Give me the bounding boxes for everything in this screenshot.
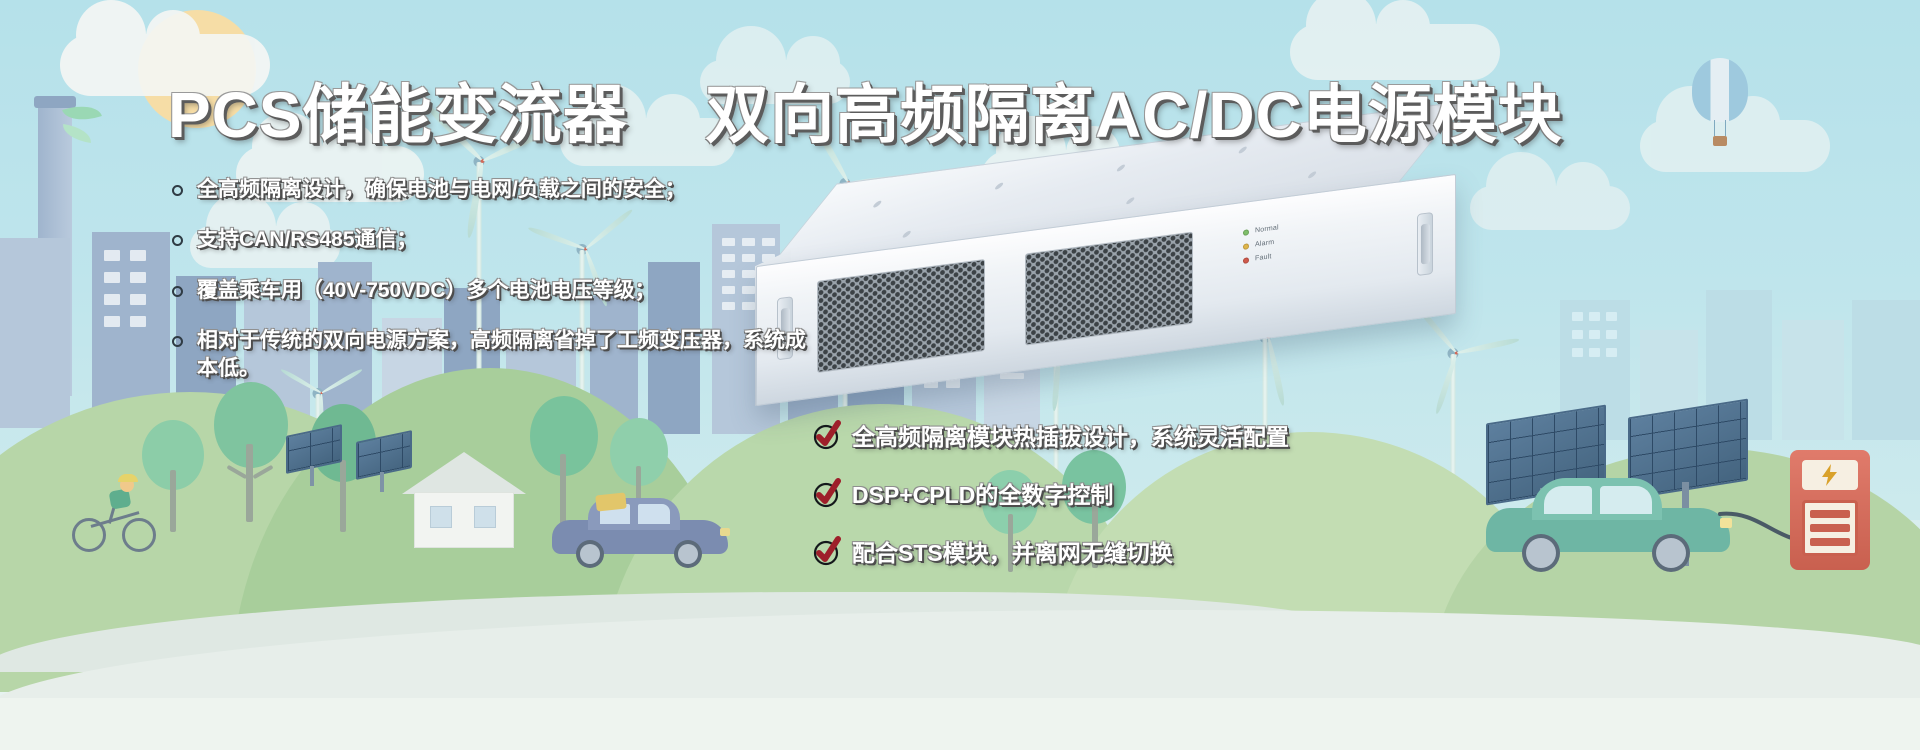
led-label-alarm: Alarm <box>1255 239 1274 249</box>
led-indicator-fault <box>1243 257 1249 264</box>
led-label-fault: Fault <box>1255 253 1272 262</box>
list-item: 配合STS模块，并离网无缝切换 <box>812 534 1289 568</box>
road-grass-band <box>0 698 1920 750</box>
feature-list: 全高频隔离设计，确保电池与电网/负载之间的安全； 支持CAN/RS485通信； … <box>172 176 892 406</box>
led-label-normal: Normal <box>1255 224 1279 234</box>
feature-text: 全高频隔离设计，确保电池与电网/负载之间的安全； <box>197 176 686 204</box>
feature-text: 覆盖乘车用（40V-750VDC）多个电池电压等级； <box>197 277 656 305</box>
car-icon <box>552 498 728 564</box>
list-item: DSP+CPLD的全数字控制 <box>812 476 1289 510</box>
device-led-panel: Normal Alarm Fault <box>1243 224 1279 271</box>
cloud-shape <box>1470 186 1630 230</box>
list-item: 相对于传统的双向电源方案，高频隔离省掉了工频变压器，系统成本低。 <box>172 327 812 384</box>
check-circle-icon <box>812 420 842 450</box>
hot-air-balloon-icon <box>1690 58 1750 168</box>
solar-panel-leg <box>380 472 384 492</box>
led-row: Fault <box>1243 252 1279 264</box>
led-indicator-alarm <box>1243 243 1249 250</box>
check-circle-icon <box>812 536 842 566</box>
smokestack-band <box>34 96 76 108</box>
solar-panel-leg <box>310 466 314 486</box>
feature-text: 支持CAN/RS485通信； <box>197 226 418 254</box>
device-air-grille-right <box>1025 232 1193 346</box>
led-row: Normal <box>1243 224 1279 236</box>
building-shape <box>1782 320 1844 440</box>
ev-car-icon <box>1486 478 1730 570</box>
led-indicator-normal <box>1243 229 1249 236</box>
feature-text: 相对于传统的双向电源方案，高频隔离省掉了工频变压器，系统成本低。 <box>197 327 812 384</box>
cyclist-icon <box>70 478 166 554</box>
highlight-text: 配合STS模块，并离网无缝切换 <box>852 534 1173 568</box>
building-shape <box>0 238 70 428</box>
bullet-circle-icon <box>172 235 183 246</box>
ev-charging-station-icon <box>1790 450 1878 578</box>
cargo-icon <box>595 492 627 511</box>
bullet-circle-icon <box>172 286 183 297</box>
bullet-circle-icon <box>172 185 183 196</box>
list-item: 支持CAN/RS485通信； <box>172 226 892 254</box>
title-part-right: 双向高频隔离AC/DC电源模块 <box>705 79 1563 151</box>
promo-banner: Normal Alarm Fault PCS储能变流器 双向高频隔离AC/DC电… <box>0 0 1920 750</box>
check-circle-icon <box>812 478 842 508</box>
house-icon <box>400 452 530 548</box>
building-shape <box>1852 300 1920 440</box>
led-row: Alarm <box>1243 238 1279 250</box>
list-item: 全高频隔离设计，确保电池与电网/负载之间的安全； <box>172 176 892 204</box>
highlight-text: DSP+CPLD的全数字控制 <box>852 476 1113 510</box>
lightning-bolt-icon <box>1820 464 1840 486</box>
highlight-list: 全高频隔离模块热插拔设计，系统灵活配置 DSP+CPLD的全数字控制 配合STS… <box>812 418 1289 592</box>
bullet-circle-icon <box>172 336 183 347</box>
title-part-left: PCS储能变流器 <box>168 79 628 151</box>
list-item: 全高频隔离模块热插拔设计，系统灵活配置 <box>812 418 1289 452</box>
list-item: 覆盖乘车用（40V-750VDC）多个电池电压等级； <box>172 277 892 305</box>
page-title: PCS储能变流器 双向高频隔离AC/DC电源模块 <box>168 64 1563 156</box>
device-handle-right <box>1417 212 1433 276</box>
highlight-text: 全高频隔离模块热插拔设计，系统灵活配置 <box>852 418 1289 452</box>
